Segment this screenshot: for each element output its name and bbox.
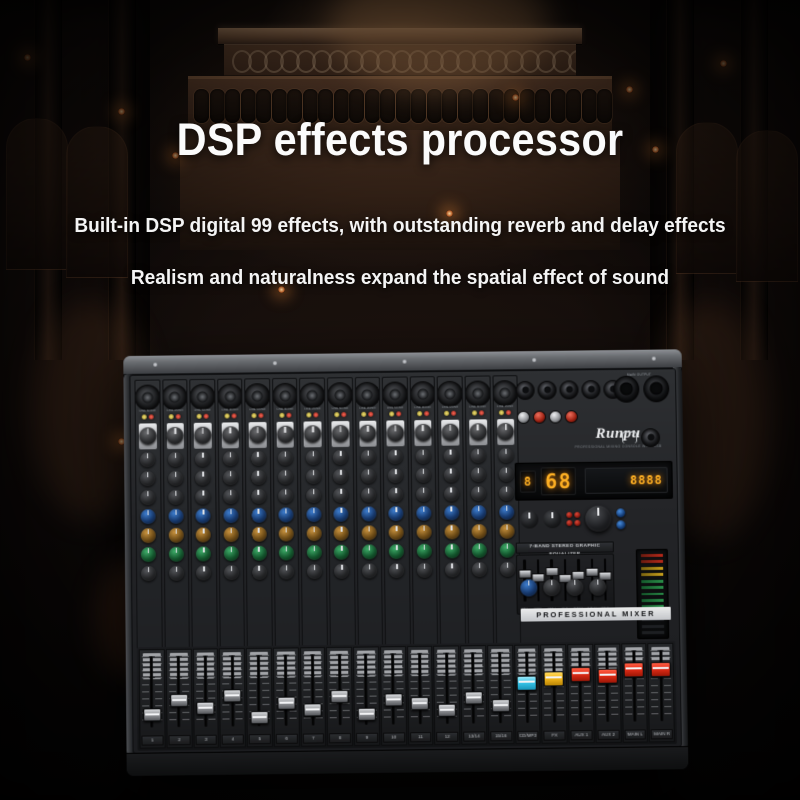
gain-knob[interactable] — [222, 426, 239, 443]
fader-tick-marks — [276, 655, 284, 724]
channel-knob-low[interactable] — [389, 487, 404, 502]
rca-rec-out-r[interactable] — [565, 410, 578, 423]
fader-label: 3 — [195, 735, 217, 745]
fader-tick-marks — [396, 653, 404, 722]
main-output-xlr-group — [613, 373, 669, 404]
fader-column: 9 — [353, 646, 380, 746]
fader-tick-marks — [342, 654, 350, 723]
channel-led-row — [248, 411, 268, 420]
xlr-combo-input-jack[interactable] — [437, 381, 463, 407]
xlr-output-left-jack[interactable] — [613, 375, 639, 402]
level-meter-segment — [640, 591, 664, 596]
fader-label: 8 — [329, 733, 351, 743]
channel-knob-high[interactable] — [361, 450, 376, 465]
rca-cd-in-l[interactable] — [517, 410, 530, 423]
fader-tick-marks — [570, 651, 578, 720]
channel-knob-column — [412, 449, 435, 578]
channel-knob-mid[interactable] — [196, 471, 211, 486]
channel-knob-aux-2[interactable] — [361, 525, 376, 540]
xlr-combo-input-jack[interactable] — [382, 381, 408, 407]
peak-led — [231, 413, 236, 418]
level-meter-segment — [640, 579, 664, 584]
usb-transport-buttons — [566, 512, 580, 526]
channel-knob-pan[interactable] — [169, 566, 184, 581]
xlr-combo-input-jack[interactable] — [217, 383, 243, 409]
fader-column: AUX 1 — [567, 644, 594, 744]
channel-knob-fx[interactable] — [224, 546, 239, 561]
fader-label: MAIN L — [624, 729, 646, 739]
fader-handle-4[interactable] — [223, 689, 241, 702]
fader-tick-marks — [651, 650, 659, 719]
gain-knob[interactable] — [387, 424, 404, 441]
gain-knob[interactable] — [139, 427, 156, 444]
xlr-combo-input-jack[interactable] — [409, 381, 435, 407]
level-meter-segment — [641, 598, 665, 603]
signal-led — [197, 414, 202, 419]
master-knob-main[interactable] — [589, 578, 606, 595]
fader-label: MAIN R — [651, 729, 673, 739]
peak-led — [204, 414, 209, 419]
usb-prev-button[interactable] — [574, 512, 580, 518]
channel-knob-fx[interactable] — [279, 545, 294, 560]
fader-tick-marks — [624, 650, 632, 719]
fader-handle-6[interactable] — [277, 697, 295, 710]
fader-tick-marks — [637, 650, 645, 719]
channel-knob-pan[interactable] — [334, 564, 349, 579]
channel-knob-aux-1[interactable] — [306, 507, 321, 522]
signal-led — [141, 414, 146, 419]
channel-knob-fx[interactable] — [251, 546, 266, 561]
channel-knob-low[interactable] — [223, 489, 238, 504]
channel-led-row — [468, 408, 488, 417]
channel-knob-fx[interactable] — [389, 544, 404, 559]
channel-knob-pan[interactable] — [224, 565, 239, 580]
channel-knob-pan[interactable] — [500, 562, 515, 577]
hero-text-block: DSP effects processor Built-in DSP digit… — [0, 112, 800, 290]
fader-handle-fx[interactable] — [544, 671, 564, 686]
level-meter-segment — [640, 572, 664, 577]
fader-tick-marks — [663, 650, 671, 719]
channel-knob-low[interactable] — [444, 486, 459, 501]
fader-handle-12[interactable] — [438, 704, 456, 717]
fader-tick-marks — [422, 653, 430, 722]
channel-knob-fx[interactable] — [500, 543, 515, 558]
fader-tick-marks — [410, 653, 418, 722]
channel-knob-aux-2[interactable] — [141, 528, 156, 543]
channel-knob-high[interactable] — [306, 450, 321, 465]
channel-knob-high[interactable] — [140, 452, 155, 467]
fader-column: MAIN L — [621, 643, 648, 743]
channel-knob-high[interactable] — [195, 452, 210, 467]
dsp-knob-fx-return[interactable] — [520, 510, 538, 528]
signal-led — [389, 411, 394, 416]
xlr-combo-input-jack[interactable] — [327, 382, 353, 408]
peak-led — [506, 410, 511, 415]
master-knob-aux1[interactable] — [543, 579, 560, 596]
page-title: DSP effects processor — [32, 112, 768, 168]
fader-column: AUX 2 — [594, 643, 621, 743]
xlr-combo-input-jack[interactable] — [189, 384, 215, 410]
gain-knob[interactable] — [332, 425, 349, 442]
xlr-combo-input-jack[interactable] — [134, 384, 160, 410]
channel-knob-pan[interactable] — [196, 565, 211, 580]
fader-column: 3 — [192, 648, 219, 748]
gain-knob[interactable] — [194, 427, 211, 444]
channel-knob-fx[interactable] — [169, 547, 184, 562]
channel-knob-fx[interactable] — [417, 544, 432, 559]
mixer-face-panel: LINE MONO1LINE MONO2LINE MONO3LINE MONO4… — [129, 368, 682, 754]
fader-handle-main-r[interactable] — [651, 662, 671, 677]
xlr-combo-input-jack[interactable] — [354, 382, 380, 408]
fader-column: CD/MP3 — [514, 644, 541, 744]
xlr-combo-input-jack[interactable] — [299, 382, 325, 408]
phones-jack-group — [622, 425, 668, 449]
fader-handle-13-14[interactable] — [465, 691, 483, 704]
fader-label: 13/14 — [463, 731, 485, 741]
gain-knob[interactable] — [442, 424, 459, 441]
fader-handle-main-l[interactable] — [624, 662, 644, 677]
channel-knob-high[interactable] — [278, 451, 293, 466]
channel-knob-aux-1[interactable] — [444, 505, 459, 520]
peak-led — [176, 414, 181, 419]
fader-handle-8[interactable] — [331, 690, 349, 703]
channel-led-row — [385, 409, 405, 418]
dsp-main-encoder[interactable] — [585, 506, 611, 532]
fader-tick-marks — [476, 652, 484, 721]
master-knob-row — [516, 574, 614, 599]
channel-led-row — [193, 412, 213, 421]
channel-knob-mid[interactable] — [168, 471, 183, 486]
channel-knob-mid[interactable] — [251, 470, 266, 485]
channel-knob-aux-1[interactable] — [389, 506, 404, 521]
channel-knob-column — [137, 452, 160, 581]
fader-column: 1 — [139, 649, 166, 749]
channel-knob-mid[interactable] — [416, 468, 431, 483]
fader-tick-marks — [181, 656, 189, 725]
phones-jack[interactable] — [641, 428, 660, 447]
channel-knob-aux-1[interactable] — [499, 505, 514, 520]
channel-knob-fx[interactable] — [362, 544, 377, 559]
xlr-combo-input-jack[interactable] — [244, 383, 270, 409]
fader-tick-marks — [383, 653, 391, 722]
fader-label: FX — [544, 730, 566, 740]
fader-label: 5 — [249, 734, 271, 744]
channel-knob-column — [192, 452, 215, 581]
gain-knob[interactable] — [249, 426, 266, 443]
channel-knob-pan[interactable] — [445, 562, 460, 577]
channel-knob-pan[interactable] — [252, 565, 267, 580]
master-knob-phones[interactable] — [520, 579, 537, 596]
channel-knob-pan[interactable] — [472, 562, 487, 577]
channel-knob-high[interactable] — [443, 449, 458, 464]
channel-knob-aux-2[interactable] — [251, 527, 266, 542]
fader-handle-11[interactable] — [411, 697, 429, 710]
fader-column: MAIN R — [648, 643, 675, 743]
channel-led-row — [303, 410, 323, 419]
channel-knob-high[interactable] — [223, 451, 238, 466]
channel-knob-aux-2[interactable] — [334, 526, 349, 541]
signal-led — [444, 411, 449, 416]
channel-knob-fx[interactable] — [472, 543, 487, 558]
fader-column: 13/14 — [460, 645, 487, 745]
faceplate-label: PROFESSIONAL MIXER — [521, 607, 671, 622]
fader-handle-15-16[interactable] — [491, 699, 509, 712]
usb-port-button[interactable] — [616, 508, 625, 517]
fader-label: 6 — [276, 734, 298, 744]
channel-knob-pan[interactable] — [417, 563, 432, 578]
fader-tick-marks — [597, 651, 605, 720]
xlr-combo-input-jack[interactable] — [272, 383, 298, 409]
channel-knob-low[interactable] — [306, 488, 321, 503]
signal-led — [307, 412, 312, 417]
channel-led-row — [275, 411, 295, 420]
usb-mode-button[interactable] — [574, 520, 580, 526]
jack-aux-send[interactable] — [537, 380, 556, 399]
fader-handle-1[interactable] — [143, 708, 161, 721]
channel-knob-mid[interactable] — [140, 471, 155, 486]
fader-handle-2[interactable] — [170, 694, 188, 707]
xlr-output-right-jack[interactable] — [643, 375, 669, 402]
signal-led — [279, 413, 284, 418]
peak-led — [479, 410, 484, 415]
gain-knob[interactable] — [359, 425, 376, 442]
signal-led — [334, 412, 339, 417]
channel-knob-pan[interactable] — [279, 564, 294, 579]
dsp-control-row — [515, 501, 673, 537]
preset-digit-value: 8 — [524, 475, 532, 489]
channel-knob-mid[interactable] — [223, 470, 238, 485]
effect-number-value: 68 — [545, 469, 572, 493]
channel-knob-high[interactable] — [250, 451, 265, 466]
channel-knob-aux-1[interactable] — [279, 507, 294, 522]
bluetooth-button[interactable] — [616, 520, 625, 529]
channel-knob-aux-2[interactable] — [196, 527, 211, 542]
gain-knob[interactable] — [414, 424, 431, 441]
fader-handle-cd-mp3[interactable] — [517, 676, 537, 691]
channel-knob-high[interactable] — [333, 450, 348, 465]
channel-knob-mid[interactable] — [471, 467, 486, 482]
channel-knob-mid[interactable] — [443, 467, 458, 482]
channel-knob-mid[interactable] — [361, 468, 376, 483]
channel-knob-column — [302, 450, 325, 579]
fader-tick-marks — [610, 651, 618, 720]
peak-led — [259, 413, 264, 418]
product-audio-mixer: LINE MONO1LINE MONO2LINE MONO3LINE MONO4… — [123, 349, 688, 776]
channel-led-row — [330, 410, 350, 419]
channel-knob-aux-2[interactable] — [499, 524, 514, 539]
fader-label: 15/16 — [490, 731, 512, 741]
channel-knob-low[interactable] — [251, 489, 266, 504]
channel-knob-aux-1[interactable] — [141, 509, 156, 524]
channel-knob-pan[interactable] — [307, 564, 322, 579]
signal-led — [499, 410, 504, 415]
dsp-knob-effect-level[interactable] — [543, 510, 561, 528]
channel-knob-aux-1[interactable] — [416, 506, 431, 521]
level-meter-segment — [641, 630, 665, 635]
fader-label: AUX 1 — [570, 730, 592, 740]
fader-label: CD/MP3 — [517, 731, 539, 741]
fader-tick-marks — [169, 656, 177, 725]
channel-knob-aux-1[interactable] — [168, 509, 183, 524]
channel-knob-fx[interactable] — [444, 543, 459, 558]
channel-led-row — [358, 410, 378, 419]
channel-led-row — [138, 412, 158, 421]
jack-mic-rtn[interactable] — [516, 380, 535, 399]
master-knob-aux2[interactable] — [566, 578, 583, 595]
channel-knob-aux-1[interactable] — [471, 505, 486, 520]
fader-handle-aux-1[interactable] — [570, 667, 590, 682]
channel-knob-fx[interactable] — [334, 545, 349, 560]
fader-column: 6 — [273, 647, 300, 747]
fader-handle-3[interactable] — [197, 702, 215, 715]
channel-knob-column — [275, 451, 298, 580]
fader-tick-marks — [288, 654, 296, 723]
fader-column: 12 — [433, 645, 460, 745]
channel-knob-aux-2[interactable] — [224, 527, 239, 542]
fader-label: 11 — [410, 732, 432, 742]
fader-column: 5 — [246, 648, 273, 748]
channel-knob-high[interactable] — [498, 448, 513, 463]
channel-knob-aux-1[interactable] — [223, 508, 238, 523]
channel-knob-fx[interactable] — [307, 545, 322, 560]
channel-knob-low[interactable] — [278, 488, 293, 503]
signal-led — [417, 411, 422, 416]
channel-knob-high[interactable] — [168, 452, 183, 467]
channel-knob-column — [165, 452, 188, 581]
channel-led-row — [413, 409, 433, 418]
peak-led — [424, 411, 429, 416]
signal-led — [252, 413, 257, 418]
channel-knob-aux-2[interactable] — [444, 524, 459, 539]
channel-knob-mid[interactable] — [388, 468, 403, 483]
channel-knob-aux-2[interactable] — [389, 525, 404, 540]
fader-handle-aux-2[interactable] — [597, 669, 617, 684]
banner-stage: DSP effects processor Built-in DSP digit… — [0, 0, 800, 800]
channel-knob-column — [330, 450, 353, 579]
peak-led — [369, 412, 374, 417]
channel-knob-fx[interactable] — [141, 547, 156, 562]
usb-mp3-display: 8888 — [585, 467, 668, 494]
channel-knob-column — [247, 451, 270, 580]
channel-knob-high[interactable] — [388, 449, 403, 464]
fader-column: 2 — [166, 649, 193, 749]
usb-side-buttons — [616, 508, 625, 529]
level-meter-segment — [640, 553, 664, 558]
channel-knob-pan[interactable] — [141, 566, 156, 581]
fader-bank: 12345678910111213/1415/16CD/MP3FXAUX 1AU… — [137, 641, 677, 751]
channel-knob-low[interactable] — [361, 487, 376, 502]
fader-label: 12 — [436, 732, 458, 742]
fader-label: 4 — [222, 734, 244, 744]
channel-knob-aux-2[interactable] — [279, 526, 294, 541]
channel-knob-aux-2[interactable] — [472, 524, 487, 539]
gain-knob[interactable] — [304, 425, 321, 442]
usb-next-button[interactable] — [566, 520, 572, 526]
channel-knob-mid[interactable] — [278, 470, 293, 485]
xlr-combo-input-jack[interactable] — [162, 384, 188, 410]
fader-handle-5[interactable] — [250, 711, 268, 724]
master-section: MAIN OUTPUT Runpu PROFESSIONAL MIXING CO… — [513, 373, 674, 619]
rca-cd-in-r[interactable] — [533, 410, 546, 423]
channel-knob-aux-1[interactable] — [361, 506, 376, 521]
fader-handle-7[interactable] — [304, 703, 322, 716]
gain-knob[interactable] — [497, 423, 514, 440]
fader-column: 8 — [326, 647, 353, 747]
fader-column: 11 — [407, 646, 434, 746]
channel-knob-low[interactable] — [471, 486, 486, 501]
channel-knob-fx[interactable] — [196, 546, 211, 561]
hero-subtitle-1: Built-in DSP digital 99 effects, with ou… — [28, 214, 772, 238]
channel-knob-aux-2[interactable] — [169, 528, 184, 543]
usb-display-value: 8888 — [630, 473, 663, 487]
channel-knob-low[interactable] — [196, 489, 211, 504]
channel-knob-mid[interactable] — [333, 469, 348, 484]
fader-column: 10 — [380, 646, 407, 746]
fader-label: 1 — [141, 735, 163, 745]
channel-knob-low[interactable] — [168, 490, 183, 505]
channel-knob-low[interactable] — [333, 488, 348, 503]
jack-fx-send[interactable] — [559, 380, 578, 399]
channel-knob-high[interactable] — [471, 448, 486, 463]
main-output-label: MAIN OUTPUT — [611, 372, 667, 377]
eq-section-title: 7-BAND STEREO GRAPHIC EQUALIZER — [516, 541, 614, 553]
fader-tick-marks — [463, 652, 471, 721]
signal-led — [169, 414, 174, 419]
xlr-combo-input-jack[interactable] — [465, 380, 491, 406]
preset-digit-display: 8 — [520, 471, 537, 493]
channel-knob-mid[interactable] — [499, 467, 514, 482]
channel-knob-aux-2[interactable] — [417, 525, 432, 540]
jack-rec-out[interactable] — [581, 380, 600, 399]
channel-led-row — [165, 412, 185, 421]
channel-knob-column — [440, 449, 463, 578]
fader-column: 15/16 — [487, 645, 514, 745]
fader-handle-9[interactable] — [358, 708, 376, 721]
fader-label: 9 — [356, 733, 378, 743]
channel-knob-high[interactable] — [416, 449, 431, 464]
level-meter-segment — [640, 566, 664, 571]
rca-rec-out-l[interactable] — [549, 410, 562, 423]
fader-label: 10 — [383, 732, 405, 742]
channel-knob-aux-1[interactable] — [251, 508, 266, 523]
fader-handle-10[interactable] — [384, 693, 402, 706]
channel-knob-aux-1[interactable] — [196, 508, 211, 523]
dsp-led-display-panel: 8 68 8888 — [515, 461, 673, 501]
gain-knob[interactable] — [469, 423, 486, 440]
gain-knob[interactable] — [277, 426, 294, 443]
usb-play-button[interactable] — [566, 512, 572, 518]
fader-label: 2 — [168, 735, 190, 745]
channel-knob-pan[interactable] — [362, 563, 377, 578]
channel-led-row — [495, 408, 515, 417]
channel-knob-low[interactable] — [416, 487, 431, 502]
channel-knob-column — [220, 451, 243, 580]
channel-knob-aux-1[interactable] — [334, 507, 349, 522]
channel-knob-low[interactable] — [141, 490, 156, 505]
channel-knob-pan[interactable] — [389, 563, 404, 578]
peak-led — [396, 411, 401, 416]
channel-knob-low[interactable] — [499, 486, 514, 501]
fader-column: FX — [540, 644, 567, 744]
gain-knob[interactable] — [167, 427, 184, 444]
peak-led — [451, 411, 456, 416]
channel-knob-mid[interactable] — [306, 469, 321, 484]
channel-led-row — [440, 409, 460, 418]
fader-label: AUX 2 — [597, 730, 619, 740]
channel-knob-aux-2[interactable] — [306, 526, 321, 541]
signal-led — [362, 412, 367, 417]
main-level-meter — [636, 549, 669, 639]
